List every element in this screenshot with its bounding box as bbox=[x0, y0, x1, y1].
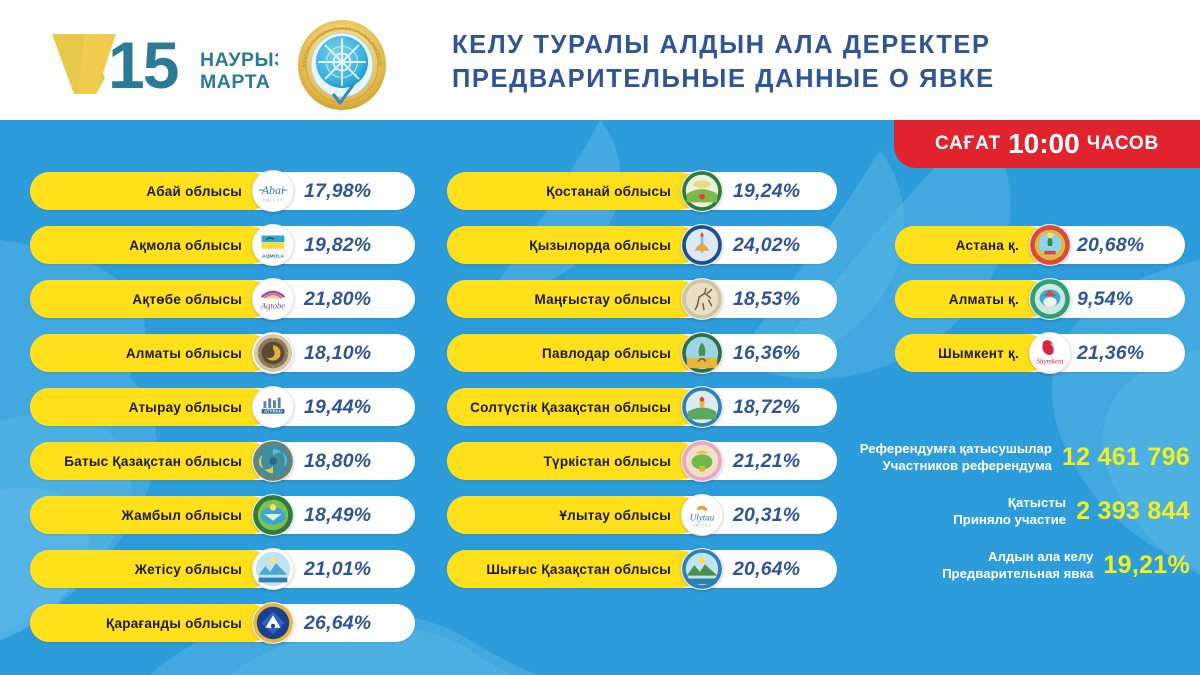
region-percent: 18,72% bbox=[733, 396, 800, 419]
region-label-chip: Ұлытау облысы bbox=[447, 496, 699, 534]
logo-kz-label: НАУРЫЗ bbox=[200, 49, 278, 71]
city-label-chip: Астана қ. bbox=[895, 226, 1047, 264]
infographic-poster: 15 НАУРЫЗ МАРТА bbox=[0, 0, 1200, 675]
city-row-astana: Астана қ. 20,68% bbox=[895, 226, 1185, 264]
region-percent: 19,44% bbox=[304, 396, 371, 419]
region-row-west-kazakhstan: Батыс Қазақстан облысы 18,80% bbox=[30, 442, 415, 480]
region-name: Ұлытау облысы bbox=[559, 508, 671, 523]
region-row-zhambyl: Жамбыл облысы 18,49% bbox=[30, 496, 415, 534]
region-name: Ақтөбе облысы bbox=[132, 292, 242, 307]
stat-labels: Қатысты Приняло участие bbox=[953, 494, 1066, 528]
city-label-chip: Шымкент қ. bbox=[895, 334, 1047, 372]
region-percent: 16,36% bbox=[733, 342, 800, 365]
logo-ru-label: МАРТА bbox=[200, 71, 270, 93]
region-row-turkistan: Түркістан облысы 21,21% bbox=[447, 442, 837, 480]
city-row-almaty: Алматы қ. 9,54% bbox=[895, 280, 1185, 318]
city-percent: 21,36% bbox=[1077, 342, 1144, 365]
city-percent: 9,54% bbox=[1077, 288, 1133, 311]
region-row-aqtobe: Ақтөбе облысы Aqtobe 21,80% bbox=[30, 280, 415, 318]
region-name: Түркістан облысы bbox=[544, 454, 671, 469]
almaty-city-emblem bbox=[1029, 278, 1071, 320]
north-kazakhstan-region-emblem bbox=[681, 386, 723, 428]
svg-text:OBLYSY: OBLYSY bbox=[263, 198, 284, 202]
main-panel: САҒАТ 10:00 ЧАСОВ Абай облысы Abai OBLYS… bbox=[0, 120, 1200, 675]
region-row-east-kazakhstan: Шығыс Қазақстан облысы 20,64% bbox=[447, 550, 837, 588]
region-name: Абай облысы bbox=[146, 184, 242, 199]
region-label-chip: Ақтөбе облысы bbox=[30, 280, 270, 318]
city-row-shymkent: Шымкент қ. Shymkent 21,36% bbox=[895, 334, 1185, 372]
title-kz: КЕЛУ ТУРАЛЫ АЛДЫН АЛА ДЕРЕКТЕР bbox=[452, 28, 1092, 62]
region-name: Қарағанды облысы bbox=[106, 616, 242, 631]
stat-label-kz: Референдумға қатысушылар bbox=[860, 440, 1052, 457]
region-name: Батыс Қазақстан облысы bbox=[64, 454, 242, 469]
stat-value: 12 461 796 bbox=[1062, 443, 1190, 472]
region-percent: 19,24% bbox=[733, 180, 800, 203]
zhambyl-region-emblem bbox=[252, 494, 294, 536]
svg-text:Ulytau: Ulytau bbox=[690, 513, 715, 523]
stat-labels: Референдумға қатысушылар Участников рефе… bbox=[860, 440, 1052, 474]
astana-city-emblem bbox=[1029, 224, 1071, 266]
svg-text:Shymkent: Shymkent bbox=[1036, 357, 1064, 365]
region-name: Жамбыл облысы bbox=[121, 508, 242, 523]
time-badge-kz: САҒАТ bbox=[935, 133, 1001, 155]
turkistan-region-emblem bbox=[681, 440, 723, 482]
kostanay-region-emblem bbox=[681, 170, 723, 212]
region-percent: 21,01% bbox=[304, 558, 371, 581]
stat-value: 2 393 844 bbox=[1076, 497, 1190, 526]
east-kazakhstan-region-emblem bbox=[681, 548, 723, 590]
region-name: Солтүстік Қазақстан облысы bbox=[470, 400, 671, 415]
stat-label-ru: Предварительная явка bbox=[942, 565, 1093, 582]
region-label-chip: Маңғыстау облысы bbox=[447, 280, 699, 318]
west-kazakhstan-region-emblem bbox=[252, 440, 294, 482]
region-name: Атырау облысы bbox=[129, 400, 242, 415]
region-column-1: Абай облысы Abai OBLYSY 17,98% Ақмола об… bbox=[30, 172, 415, 658]
time-badge: САҒАТ 10:00 ЧАСОВ bbox=[894, 120, 1200, 168]
region-label-chip: Шығыс Қазақстан облысы bbox=[447, 550, 699, 588]
region-name: Шығыс Қазақстан облысы bbox=[486, 562, 671, 577]
stat-label-kz: Алдын ала келу bbox=[942, 548, 1093, 565]
summary-stats: Референдумға қатысушылар Участников рефе… bbox=[845, 440, 1190, 602]
region-label-chip: Абай облысы bbox=[30, 172, 270, 210]
region-label-chip: Жамбыл облысы bbox=[30, 496, 270, 534]
stat-labels: Алдын ала келу Предварительная явка bbox=[942, 548, 1093, 582]
city-name: Астана қ. bbox=[956, 238, 1019, 253]
stat-turnout: Алдын ала келу Предварительная явка 19,2… bbox=[845, 548, 1190, 582]
region-percent: 20,64% bbox=[733, 558, 800, 581]
stat-registered-voters: Референдумға қатысушылар Участников рефе… bbox=[845, 440, 1190, 474]
region-label-chip: Солтүстік Қазақстан облысы bbox=[447, 388, 699, 426]
mangystau-region-emblem bbox=[681, 278, 723, 320]
region-row-mangystau: Маңғыстау облысы 18,53% bbox=[447, 280, 837, 318]
region-percent: 18,10% bbox=[304, 342, 371, 365]
region-label-chip: Батыс Қазақстан облысы bbox=[30, 442, 270, 480]
ulytau-region-emblem: Ulytau OBLYSY bbox=[681, 494, 723, 536]
region-percent: 19,82% bbox=[304, 234, 371, 257]
shymkent-city-emblem: Shymkent bbox=[1029, 332, 1071, 374]
time-badge-value: 10:00 bbox=[1008, 128, 1080, 160]
region-percent: 24,02% bbox=[733, 234, 800, 257]
stat-value: 19,21% bbox=[1103, 551, 1190, 580]
region-row-kostanay: Қостанай облысы 19,24% bbox=[447, 172, 837, 210]
city-name: Алматы қ. bbox=[949, 292, 1019, 307]
svg-text:ATYRAU: ATYRAU bbox=[264, 409, 282, 414]
region-row-ulytau: Ұлытау облысы Ulytau OBLYSY 20,31% bbox=[447, 496, 837, 534]
region-row-pavlodar: Павлодар облысы 16,36% bbox=[447, 334, 837, 372]
stat-label-ru: Участников референдума bbox=[860, 457, 1052, 474]
region-column-2: Қостанай облысы 19,24% Қызылорда облысы bbox=[447, 172, 837, 604]
region-label-chip: Павлодар облысы bbox=[447, 334, 699, 372]
atyrau-region-emblem: ATYRAU bbox=[252, 386, 294, 428]
stat-participated: Қатысты Приняло участие 2 393 844 bbox=[845, 494, 1190, 528]
page-title: КЕЛУ ТУРАЛЫ АЛДЫН АЛА ДЕРЕКТЕР ПРЕДВАРИТ… bbox=[452, 28, 1092, 96]
abai-region-emblem: Abai OBLYSY bbox=[252, 170, 294, 212]
region-percent: 21,80% bbox=[304, 288, 371, 311]
region-percent: 18,80% bbox=[304, 450, 371, 473]
region-label-chip: Атырау облысы bbox=[30, 388, 270, 426]
karaganda-region-emblem bbox=[252, 602, 294, 644]
region-percent: 18,53% bbox=[733, 288, 800, 311]
region-row-almaty-oblast: Алматы облысы 18,10% bbox=[30, 334, 415, 372]
svg-text:Aqtobe: Aqtobe bbox=[260, 301, 285, 311]
region-name: Жетісу облысы bbox=[135, 562, 242, 577]
stat-label-ru: Приняло участие bbox=[953, 511, 1066, 528]
region-row-kyzylorda: Қызылорда облысы 24,02% bbox=[447, 226, 837, 264]
region-percent: 20,31% bbox=[733, 504, 800, 527]
city-column: Астана қ. 20,68% Алматы қ. bbox=[895, 226, 1185, 388]
svg-text:AQMOLA: AQMOLA bbox=[262, 253, 284, 259]
city-percent: 20,68% bbox=[1077, 234, 1144, 257]
region-name: Қызылорда облысы bbox=[529, 238, 671, 253]
region-label-chip: Ақмола облысы bbox=[30, 226, 270, 264]
stat-label-kz: Қатысты bbox=[953, 494, 1066, 511]
svg-text:15: 15 bbox=[108, 28, 178, 98]
region-name: Павлодар облысы bbox=[542, 346, 671, 361]
cec-kazakhstan-emblem: ҚАЗАҚСТАН РЕСПУБЛИКАСЫНЫҢ ОРТАЛЫҚ РЕФЕРЕ… bbox=[297, 19, 387, 111]
aqtobe-region-emblem: Aqtobe bbox=[252, 278, 294, 320]
region-row-abai: Абай облысы Abai OBLYSY 17,98% bbox=[30, 172, 415, 210]
pavlodar-region-emblem bbox=[681, 332, 723, 374]
region-label-chip: Қарағанды облысы bbox=[30, 604, 270, 642]
city-name: Шымкент қ. bbox=[938, 346, 1019, 361]
region-row-atyrau: Атырау облысы ATYRAU 19,44% bbox=[30, 388, 415, 426]
region-name: Ақмола облысы bbox=[129, 238, 242, 253]
region-name: Қостанай облысы bbox=[546, 184, 671, 199]
region-percent: 21,21% bbox=[733, 450, 800, 473]
region-label-chip: Жетісу облысы bbox=[30, 550, 270, 588]
region-percent: 17,98% bbox=[304, 180, 371, 203]
checkmark-15-logo: 15 НАУРЫЗ МАРТА bbox=[48, 26, 278, 98]
time-badge-ru: ЧАСОВ bbox=[1087, 133, 1159, 155]
region-name: Алматы облысы bbox=[126, 346, 242, 361]
city-label-chip: Алматы қ. bbox=[895, 280, 1047, 318]
svg-text:OBLYSY: OBLYSY bbox=[693, 523, 711, 527]
region-label-chip: Алматы облысы bbox=[30, 334, 270, 372]
region-percent: 18,49% bbox=[304, 504, 371, 527]
title-ru: ПРЕДВАРИТЕЛЬНЫЕ ДАННЫЕ О ЯВКЕ bbox=[452, 62, 1092, 96]
almaty-region-emblem bbox=[252, 332, 294, 374]
region-label-chip: Қостанай облысы bbox=[447, 172, 699, 210]
zhetisu-region-emblem bbox=[252, 548, 294, 590]
kyzylorda-region-emblem bbox=[681, 224, 723, 266]
region-row-aqmola: Ақмола облысы AQMOLA 19,82% bbox=[30, 226, 415, 264]
region-percent: 26,64% bbox=[304, 612, 371, 635]
region-row-north-kazakhstan: Солтүстік Қазақстан облысы 18,72% bbox=[447, 388, 837, 426]
header: 15 НАУРЫЗ МАРТА bbox=[0, 0, 1200, 120]
region-name: Маңғыстау облысы bbox=[534, 292, 671, 307]
region-label-chip: Қызылорда облысы bbox=[447, 226, 699, 264]
region-row-zhetisu: Жетісу облысы 21,01% bbox=[30, 550, 415, 588]
aqmola-region-emblem: AQMOLA bbox=[252, 224, 294, 266]
region-row-karaganda: Қарағанды облысы 26,64% bbox=[30, 604, 415, 642]
region-label-chip: Түркістан облысы bbox=[447, 442, 699, 480]
